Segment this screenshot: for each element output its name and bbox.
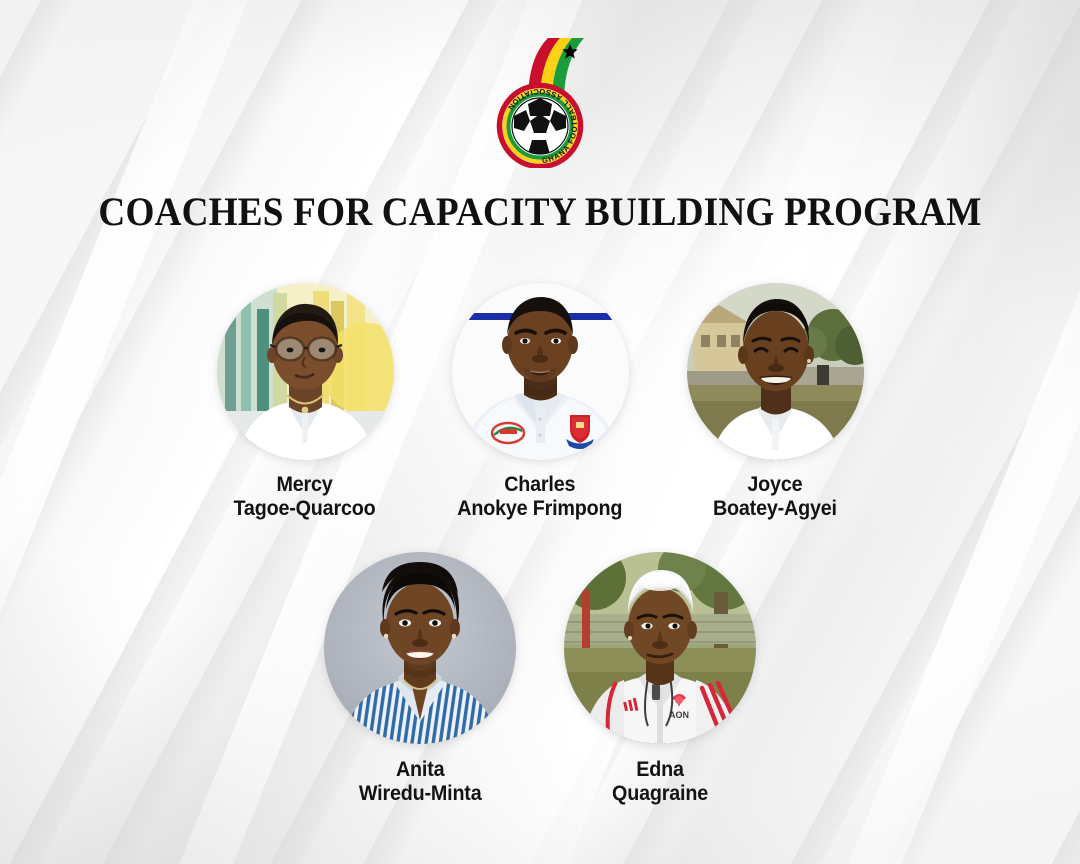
- ghana-football-association-logo-icon: GHANA FOOTBALL ASSOCIATION: [488, 30, 592, 168]
- avatar: [324, 552, 516, 744]
- portrait-anita-wiredu-minta: [324, 552, 516, 744]
- portrait-mercy-tagoe-quarcoo: [217, 283, 394, 460]
- portrait-joyce-boatey-agyei: [687, 283, 864, 460]
- coach-card-joyce-boatey-agyei[interactable]: Joyce Boatey-Agyei: [687, 283, 864, 522]
- coach-card-charles-anokye-frimpong[interactable]: Charles Anokye Frimpong: [452, 283, 629, 522]
- coach-name: Charles Anokye Frimpong: [457, 473, 622, 522]
- portrait-edna-quagraine: AON: [564, 552, 756, 744]
- avatar: [687, 283, 864, 460]
- logo-container: GHANA FOOTBALL ASSOCIATION: [0, 30, 1080, 168]
- coach-name: Mercy Tagoe-Quarcoo: [234, 473, 376, 522]
- coach-row-2: Anita Wiredu-Minta: [0, 552, 1080, 807]
- coach-row-1: Mercy Tagoe-Quarcoo: [0, 283, 1080, 522]
- coach-card-edna-quagraine[interactable]: AON: [564, 552, 756, 807]
- page-title: COACHES FOR CAPACITY BUILDING PROGRAM: [38, 188, 1042, 235]
- coach-card-mercy-tagoe-quarcoo[interactable]: Mercy Tagoe-Quarcoo: [217, 283, 394, 522]
- portrait-charles-anokye-frimpong: [452, 283, 629, 460]
- avatar: [217, 283, 394, 460]
- coach-card-anita-wiredu-minta[interactable]: Anita Wiredu-Minta: [324, 552, 516, 807]
- avatar: AON: [564, 552, 756, 744]
- poster-canvas: GHANA FOOTBALL ASSOCIATION COACHES FOR C…: [0, 0, 1080, 864]
- coach-name: Edna Quagraine: [612, 758, 708, 807]
- coach-name: Joyce Boatey-Agyei: [713, 473, 837, 522]
- avatar: [452, 283, 629, 460]
- coach-name: Anita Wiredu-Minta: [359, 758, 482, 807]
